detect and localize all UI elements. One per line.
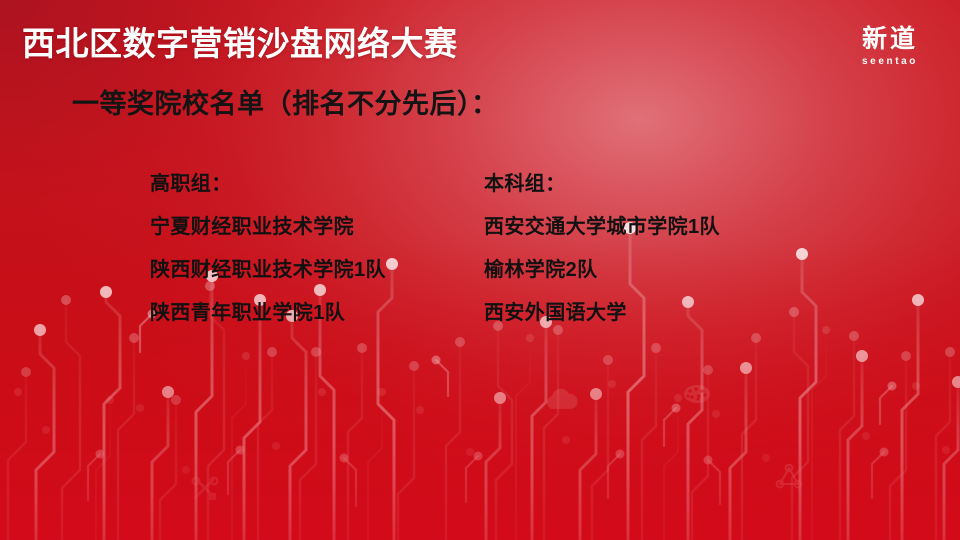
list-item: 西安交通大学城市学院1队 xyxy=(484,215,720,239)
list-item: 榆林学院2队 xyxy=(484,258,720,282)
brain-icon xyxy=(684,385,710,403)
network-nodes-icon xyxy=(777,465,802,488)
list-item: 陕西财经职业技术学院1队 xyxy=(150,258,386,282)
brand-logo-wordmark: seentao xyxy=(844,56,936,68)
award-column-undergraduate: 本科组： 西安交通大学城市学院1队 榆林学院2队 西安外国语大学 xyxy=(484,172,720,325)
tools-icon xyxy=(193,478,218,500)
list-item: 陕西青年职业学院1队 xyxy=(150,301,386,325)
decorative-glyph-layer xyxy=(0,0,960,540)
brand-logo: 新道 seentao xyxy=(844,26,936,68)
brand-logo-mark: 新道 xyxy=(844,26,936,53)
column-heading: 高职组： xyxy=(150,172,386,196)
list-item: 宁夏财经职业技术学院 xyxy=(150,215,386,239)
page-subtitle: 一等奖院校名单（排名不分先后）： xyxy=(72,86,499,122)
cloud-icon xyxy=(547,389,578,409)
page-title: 西北区数字营销沙盘网络大赛 xyxy=(22,23,458,65)
slide-canvas: 西北区数字营销沙盘网络大赛 一等奖院校名单（排名不分先后）： 新道 seenta… xyxy=(0,0,960,540)
circuit-board-pattern xyxy=(0,0,960,540)
background-bottom-wash xyxy=(0,240,960,540)
list-item: 西安外国语大学 xyxy=(484,301,720,325)
award-column-vocational: 高职组： 宁夏财经职业技术学院 陕西财经职业技术学院1队 陕西青年职业学院1队 xyxy=(150,172,386,325)
column-heading: 本科组： xyxy=(484,172,720,196)
